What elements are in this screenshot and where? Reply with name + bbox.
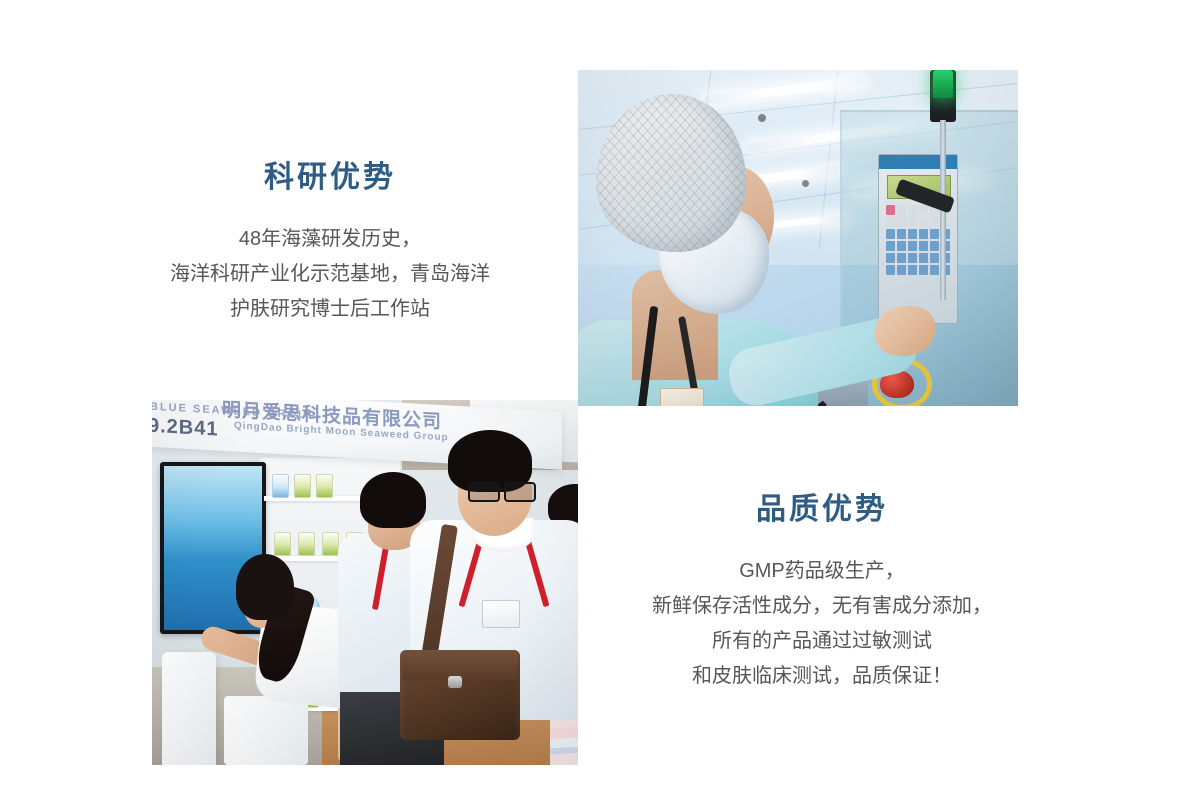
marketing-feature-page: 科研优势 48年海藻研发历史， 海洋科研产业化示范基地，青岛海洋 护肤研究博士后… bbox=[0, 0, 1200, 810]
machine-control-panel bbox=[878, 154, 958, 324]
product-box bbox=[294, 474, 311, 498]
product-box bbox=[272, 474, 289, 498]
research-body-line-2: 海洋科研产业化示范基地，青岛海洋 bbox=[110, 257, 550, 292]
sprinkler-icon bbox=[758, 114, 766, 122]
trade-show-booth-photo: BLUE SEAWEED GROUP 明月爱思科技品有限公司 QingDao B… bbox=[152, 400, 578, 765]
product-box bbox=[322, 532, 339, 556]
messenger-bag-clasp bbox=[448, 676, 462, 688]
visitor-woman-hair bbox=[236, 554, 294, 620]
booth-podium bbox=[224, 696, 308, 765]
product-box bbox=[274, 532, 291, 556]
research-body-line-3: 护肤研究博士后工作站 bbox=[110, 292, 550, 327]
operator-id-badge bbox=[660, 388, 704, 406]
hairnet-mesh-texture bbox=[596, 94, 746, 252]
operator-hairnet bbox=[596, 94, 746, 252]
cleanroom-production-photo bbox=[578, 70, 1018, 406]
research-advantage-text-block: 科研优势 48年海藻研发历史， 海洋科研产业化示范基地，青岛海洋 护肤研究博士后… bbox=[110, 160, 550, 327]
visitor-id-badge bbox=[482, 600, 520, 628]
signal-tower-green-lamp bbox=[933, 70, 953, 98]
sprinkler-icon bbox=[802, 180, 809, 187]
research-body-line-1: 48年海藻研发历史， bbox=[110, 222, 550, 257]
booth-number-label: 9.2B41 bbox=[152, 415, 219, 442]
research-advantage-heading: 科研优势 bbox=[110, 160, 550, 196]
signal-tower-light bbox=[930, 70, 956, 122]
product-box bbox=[316, 474, 333, 498]
quality-advantage-text-block: 品质优势 GMP药品级生产， 新鲜保存活性成分，无有害成分添加， 所有的产品通过… bbox=[592, 492, 1052, 694]
visitor-man-hair bbox=[360, 472, 426, 528]
quality-body-line-3: 所有的产品通过过敏测试 bbox=[592, 624, 1052, 659]
quality-body-line-2: 新鲜保存活性成分，无有害成分添加， bbox=[592, 589, 1052, 624]
research-advantage-body: 48年海藻研发历史， 海洋科研产业化示范基地，青岛海洋 护肤研究博士后工作站 bbox=[110, 222, 550, 327]
product-box bbox=[298, 532, 315, 556]
quality-advantage-heading: 品质优势 bbox=[592, 492, 1052, 528]
booth-podium bbox=[162, 652, 216, 765]
quality-advantage-body: GMP药品级生产， 新鲜保存活性成分，无有害成分添加， 所有的产品通过过敏测试 … bbox=[592, 554, 1052, 694]
quality-body-line-1: GMP药品级生产， bbox=[592, 554, 1052, 589]
quality-body-line-4: 和皮肤临床测试，品质保证！ bbox=[592, 659, 1052, 694]
eyeglasses-icon bbox=[468, 482, 536, 498]
